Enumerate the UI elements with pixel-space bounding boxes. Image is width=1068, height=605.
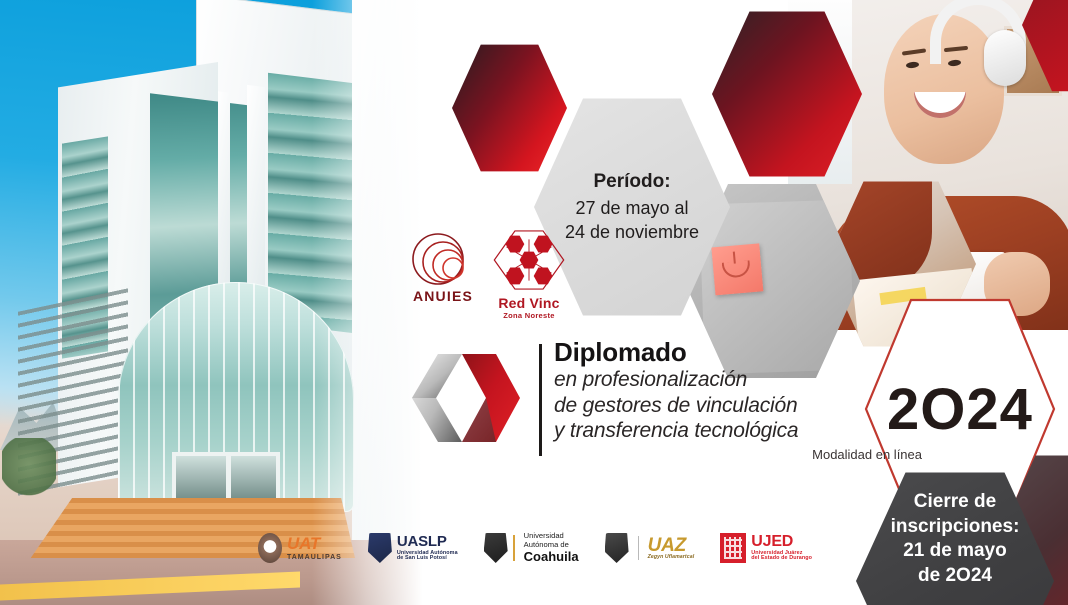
uat-text: UAT TAMAULIPAS [287,535,342,560]
ujed-acronym: UJED [751,533,793,550]
period-line-1: 27 de mayo al [565,197,699,221]
page-title: Diplomado [554,338,928,367]
uaslp-text: UASLP Universidad Autónoma de San Luis P… [397,534,458,561]
sticky-note [711,243,763,295]
logo-ujed: UJED Universidad Juárez del Estado de Du… [720,528,812,568]
uaslp-crest-icon [368,533,392,563]
headphones-earcup-icon [984,30,1026,86]
logo-uaslp: UASLP Universidad Autónoma de San Luis P… [368,528,458,568]
uaz-divider [638,536,639,560]
title-subline-2: de gestores de vinculación [554,393,928,419]
uat-crest-icon [258,533,282,563]
period-line-2: 24 de noviembre [565,221,699,245]
red-vinc-sublabel: Zona Noreste [484,311,574,320]
hexagon-cluster-icon [484,230,574,295]
title-divider [539,344,542,456]
ujed-sublabel-2: del Estado de Durango [751,556,812,562]
tree [2,438,56,498]
anuies-label: ANUIES [404,288,482,304]
deadline-line-3: 21 de mayo [891,539,1020,564]
uaz-crest-icon [605,533,629,563]
university-building-photo [0,0,430,605]
title-subline-1: en profesionalización [554,367,928,393]
uaslp-acronym: UASLP [397,533,447,550]
deadline-line-1: Cierre de [891,490,1020,515]
deadline-line-4: de 2O24 [891,564,1020,589]
diplomado-chevron-hexagon-mark-icon [408,340,524,456]
title-subline-3: y transferencia tecnológica [554,418,928,444]
sticky-note-smile-icon [722,260,751,278]
organizer-logos: ANUIES Red Vinc [404,232,574,318]
uaslp-sublabel-2: de San Luis Potosí [397,556,458,562]
coahuila-crest-icon [484,533,508,563]
uat-acronym: UAT [287,534,320,553]
uaz-text: UAZ Zegyn Uflamartcal [648,536,695,561]
modality-label: Modalidad en línea [554,447,928,462]
promotional-banner: Período: 27 de mayo al 24 de noviembre 2… [0,0,1068,605]
coahuila-name: Coahuila [524,550,579,564]
uat-sublabel: TAMAULIPAS [287,554,342,561]
title-block: Diplomado en profesionalización de gesto… [408,330,928,490]
logo-uat: UAT TAMAULIPAS [258,528,342,568]
hex-decor-red-small [452,42,567,174]
red-vinc-logo: Red Vinc Zona Noreste [484,230,574,320]
logo-uaz: UAZ Zegyn Uflamartcal [605,528,695,568]
coahuila-text: Universidad Autónoma de Coahuila [524,532,579,564]
deadline-line-2: inscripciones: [891,515,1020,540]
logo-uadec: Universidad Autónoma de Coahuila [484,528,579,568]
concentric-circles-icon [408,232,478,286]
coahuila-divider [513,535,515,561]
university-logos-row: UAT TAMAULIPAS UASLP Universidad Autónom… [258,524,858,572]
anuies-logo: ANUIES [404,232,482,304]
uaz-acronym: UAZ [648,535,686,556]
period-label: Período: [565,169,699,194]
red-vinc-label: Red Vinc [484,295,574,311]
ujed-text: UJED Universidad Juárez del Estado de Du… [751,534,812,561]
ujed-crest-icon [720,533,746,563]
uaz-sublabel: Zegyn Uflamartcal [648,555,695,560]
period-text-block: Período: 27 de mayo al 24 de noviembre [565,169,699,245]
title-texts: Diplomado en profesionalización de gesto… [554,338,928,462]
